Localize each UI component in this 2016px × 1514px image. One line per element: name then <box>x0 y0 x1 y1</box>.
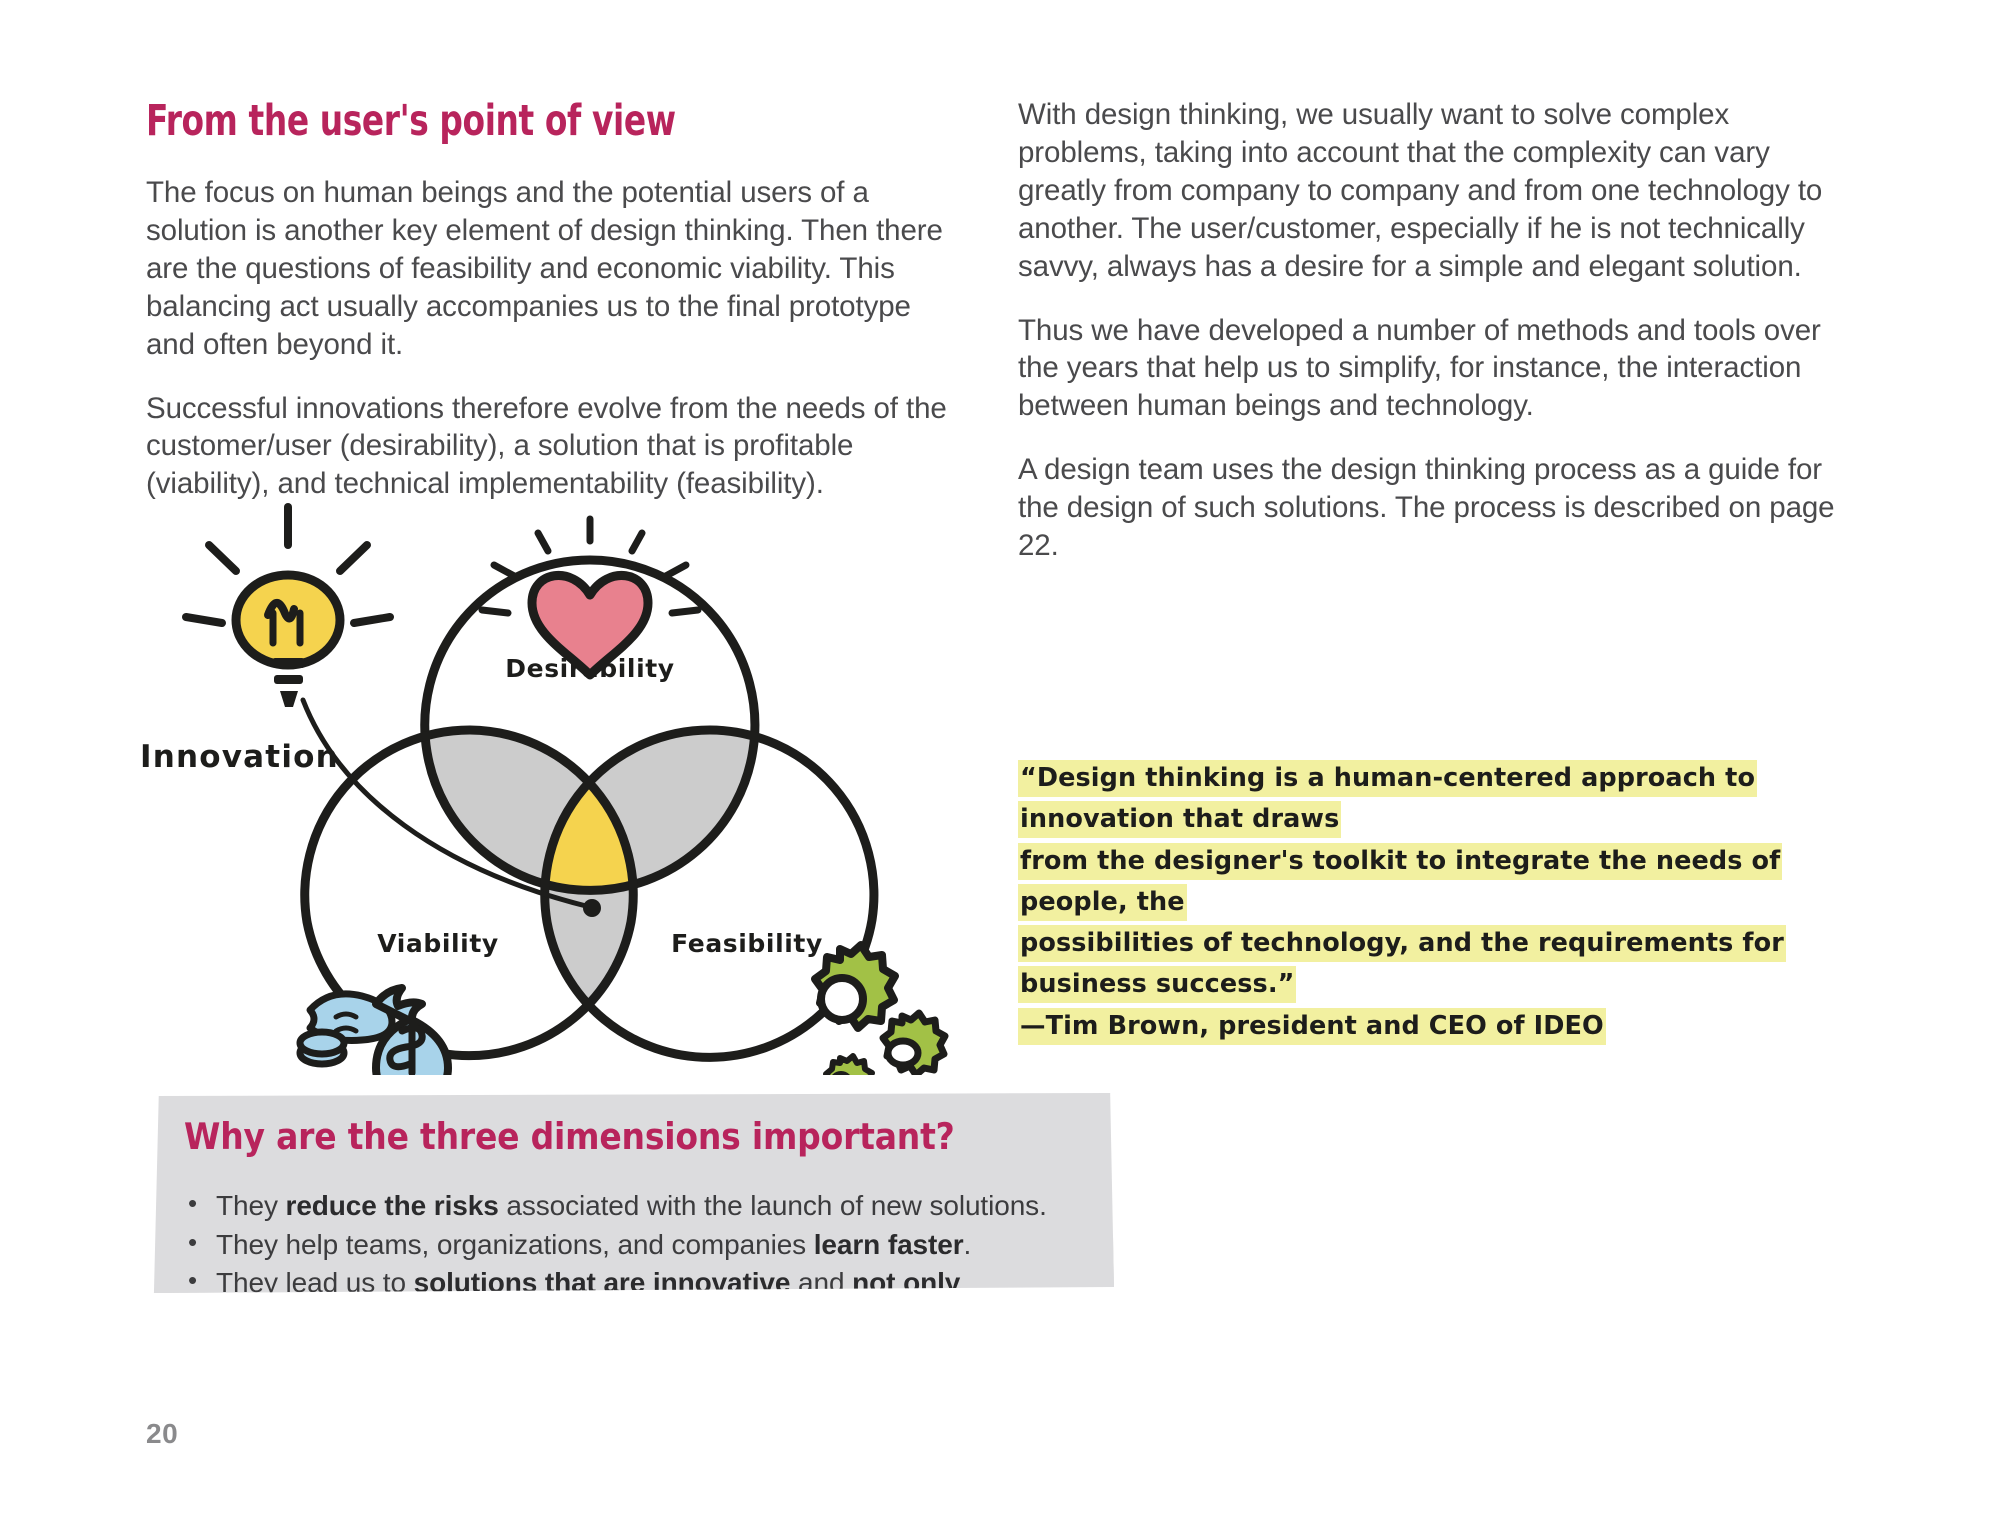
heart-icon <box>482 519 698 675</box>
list-item-mid: and <box>790 1267 852 1298</box>
right-paragraph-1: With design thinking, we usually want to… <box>1018 96 1858 286</box>
lightbulb-icon <box>186 507 390 707</box>
list-item-post: . <box>964 1229 972 1260</box>
callout-box: Why are the three dimensions important? … <box>152 1093 1114 1293</box>
left-paragraph-2: Successful innovations therefore evolve … <box>146 390 958 504</box>
list-item-post: associated with the launch of new soluti… <box>499 1190 1047 1221</box>
list-item-pre: They <box>216 1190 286 1221</box>
list-item: They help teams, organizations, and comp… <box>216 1226 1114 1265</box>
quote-attribution: —Tim Brown, president and CEO of IDEO <box>1018 1006 1878 1047</box>
money-bag-icon <box>300 988 448 1075</box>
list-item-bold: reduce the risks <box>286 1190 499 1221</box>
left-text-column: From the user's point of view The focus … <box>146 96 958 503</box>
callout-list: They reduce the risks associated with th… <box>174 1187 1114 1342</box>
page-title: From the user's point of view <box>146 96 926 145</box>
quote-block: “Design thinking is a human-centered app… <box>1018 758 1878 1047</box>
quote-line-3: possibilities of technology, and the req… <box>1018 923 1878 1006</box>
venn-label-viability: Viability <box>377 929 499 958</box>
list-item-post: . <box>372 1306 380 1337</box>
venn-label-feasibility: Feasibility <box>671 929 823 958</box>
page-number: 20 <box>146 1418 178 1450</box>
list-item: They reduce the risks associated with th… <box>216 1187 1114 1226</box>
right-text-column: With design thinking, we usually want to… <box>1018 96 1858 565</box>
list-item-pre: They help teams, organizations, and comp… <box>216 1229 814 1260</box>
list-item-pre: They lead us to <box>216 1267 414 1298</box>
innovation-label: Innovation <box>140 739 339 775</box>
right-paragraph-3: A design team uses the design thinking p… <box>1018 451 1858 565</box>
list-item: They lead us to solutions that are innov… <box>216 1264 1114 1341</box>
list-item-bold: learn faster <box>814 1229 964 1260</box>
gears-icon <box>815 945 945 1075</box>
callout-title: Why are the three dimensions important? <box>184 1115 955 1158</box>
list-item-bold: solutions that are innovative <box>414 1267 791 1298</box>
document-page: From the user's point of view The focus … <box>0 0 2016 1514</box>
left-paragraph-1: The focus on human beings and the potent… <box>146 174 958 364</box>
right-paragraph-2: Thus we have developed a number of metho… <box>1018 312 1858 426</box>
quote-line-1: “Design thinking is a human-centered app… <box>1018 758 1878 841</box>
venn-diagram: Desirability Viability Feasibility <box>140 495 1040 1075</box>
quote-line-2: from the designer's toolkit to integrate… <box>1018 841 1878 924</box>
